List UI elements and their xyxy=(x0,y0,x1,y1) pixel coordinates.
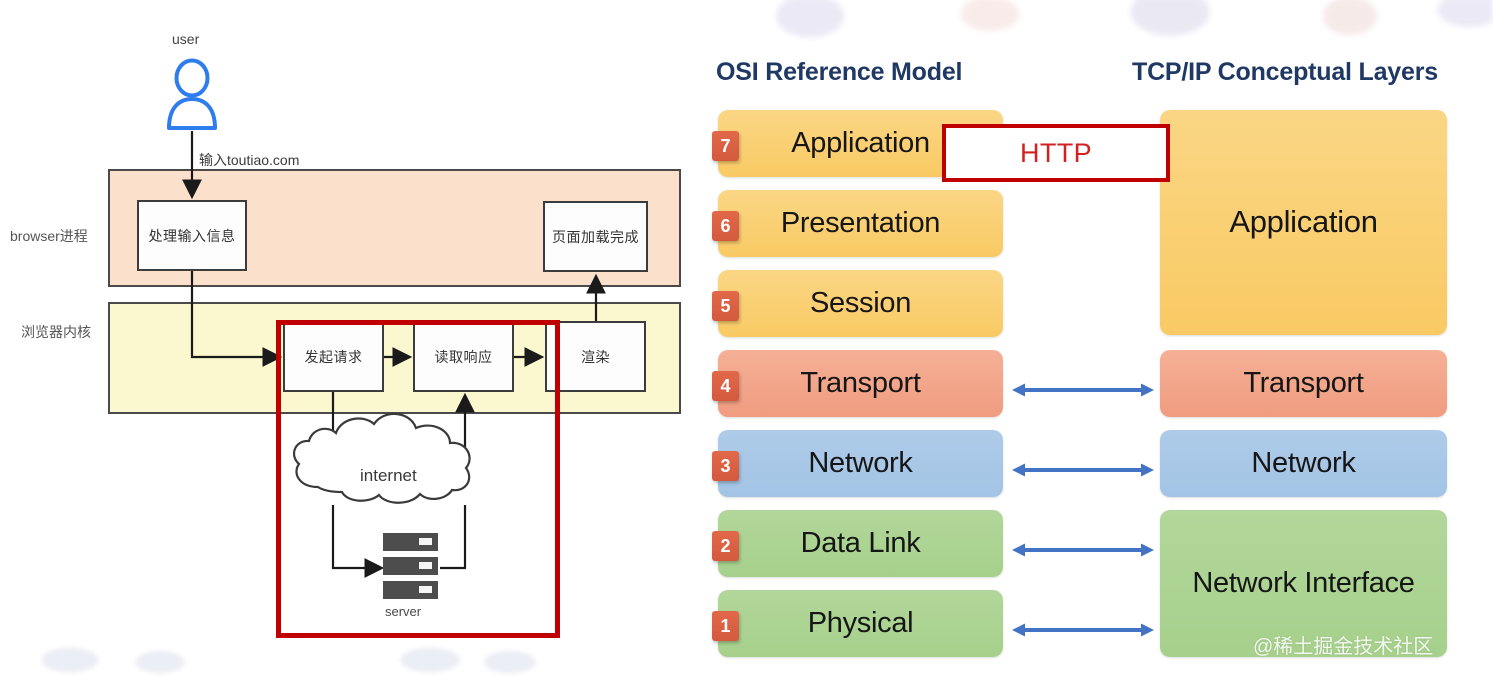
osi-layer-number-7: 7 xyxy=(712,131,739,161)
osi-layer-label: Data Link xyxy=(801,528,921,559)
osi-layer-number-2: 2 xyxy=(712,531,739,561)
osi-layer-network: Network xyxy=(718,430,1003,497)
browser-flow-diagram: user 输入toutiao.com browser进程 浏览器内核 xyxy=(0,0,700,677)
osi-layer-label: Session xyxy=(810,288,911,319)
tcpip-layer-network: Network xyxy=(1160,430,1447,497)
mapping-arrow-physical xyxy=(1012,622,1154,638)
osi-layer-physical: Physical xyxy=(718,590,1003,657)
osi-layer-number-5: 5 xyxy=(712,291,739,321)
mapping-arrow-data-link xyxy=(1012,542,1154,558)
http-callout-box: HTTP xyxy=(942,124,1170,182)
osi-layer-session: Session xyxy=(718,270,1003,337)
box-page-loaded: 页面加载完成 xyxy=(543,201,648,272)
osi-layer-label: Network xyxy=(808,448,912,479)
tcpip-layer-label: Application xyxy=(1229,206,1377,239)
badge-number: 4 xyxy=(720,376,730,397)
osi-layer-presentation: Presentation xyxy=(718,190,1003,257)
screenshot-canvas: user 输入toutiao.com browser进程 浏览器内核 xyxy=(0,0,1493,677)
osi-column-title: OSI Reference Model xyxy=(716,58,962,87)
http-callout-label: HTTP xyxy=(1020,138,1092,169)
osi-layer-label: Presentation xyxy=(781,208,940,239)
tcpip-layer-label: Network Interface xyxy=(1192,568,1414,599)
watermark-text: @稀土掘金技术社区 xyxy=(1253,630,1433,659)
tcpip-column-title: TCP/IP Conceptual Layers xyxy=(1132,58,1438,87)
network-highlight-box xyxy=(276,320,560,638)
tcpip-layer-application: Application xyxy=(1160,110,1447,335)
tcpip-layer-transport: Transport xyxy=(1160,350,1447,417)
box-render: 渲染 xyxy=(545,321,646,392)
badge-number: 5 xyxy=(720,296,730,317)
osi-layer-number-6: 6 xyxy=(712,211,739,241)
osi-layer-label: Application xyxy=(791,128,930,159)
osi-layer-number-3: 3 xyxy=(712,451,739,481)
osi-layer-transport: Transport xyxy=(718,350,1003,417)
tcpip-layer-label: Transport xyxy=(1243,368,1363,399)
tcpip-layer-label: Network xyxy=(1251,448,1355,479)
badge-number: 1 xyxy=(720,616,730,637)
mapping-arrow-transport xyxy=(1012,382,1154,398)
mapping-arrow-network xyxy=(1012,462,1154,478)
osi-layer-label: Physical xyxy=(808,608,914,639)
badge-number: 2 xyxy=(720,536,730,557)
osi-tcpip-diagram: OSI Reference Model TCP/IP Conceptual La… xyxy=(700,0,1493,677)
badge-number: 7 xyxy=(720,136,730,157)
osi-layer-label: Transport xyxy=(800,368,920,399)
box-handle-input: 处理输入信息 xyxy=(137,200,247,271)
badge-number: 6 xyxy=(720,216,730,237)
osi-layer-number-4: 4 xyxy=(712,371,739,401)
osi-layer-number-1: 1 xyxy=(712,611,739,641)
osi-layer-data-link: Data Link xyxy=(718,510,1003,577)
badge-number: 3 xyxy=(720,456,730,477)
